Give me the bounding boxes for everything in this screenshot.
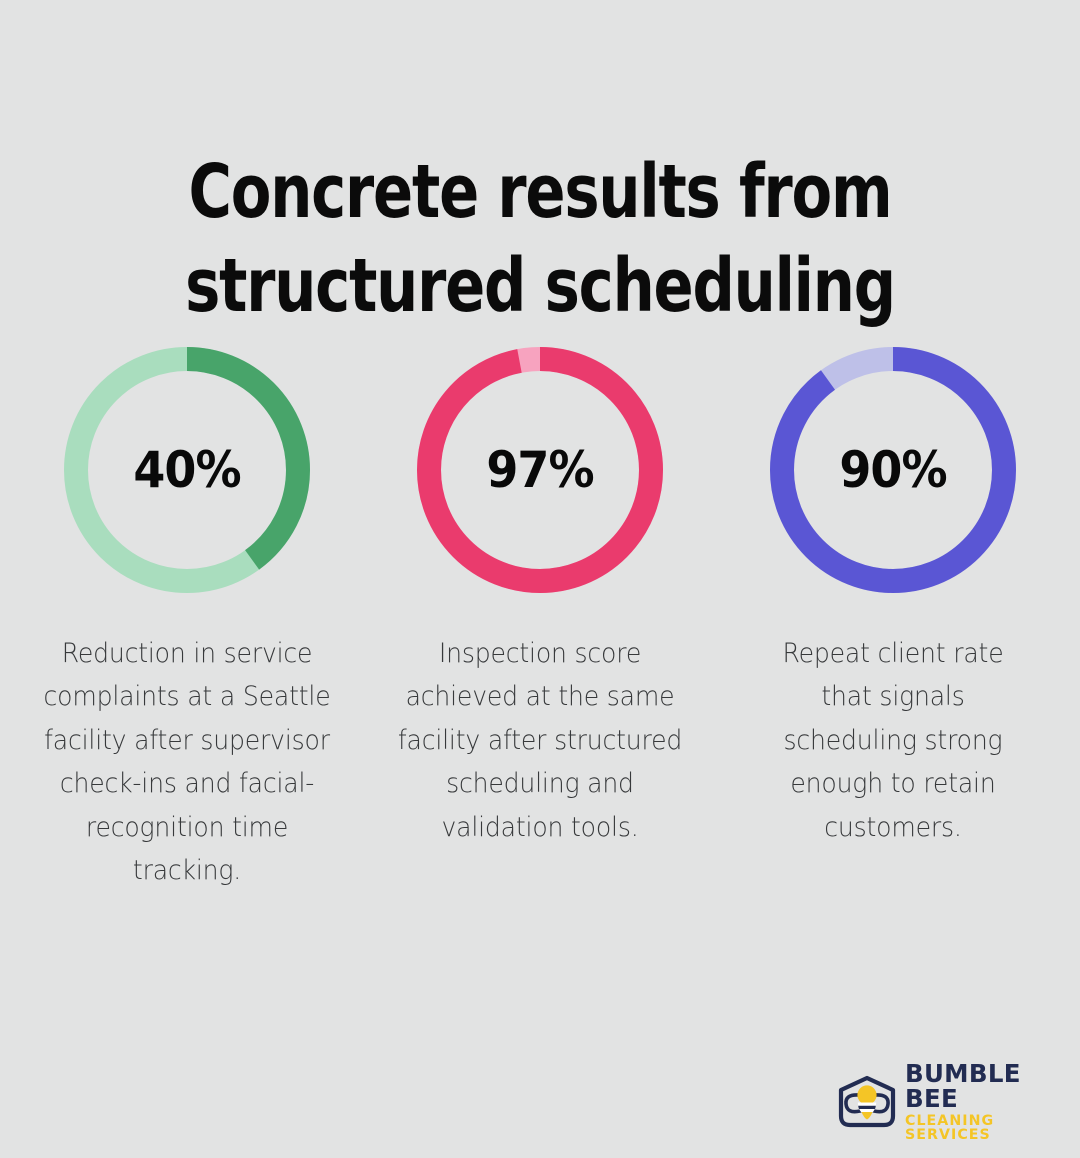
logo-name: BUMBLE BEE	[905, 1062, 1080, 1111]
logo-tagline: CLEANING SERVICES	[905, 1114, 1080, 1142]
bee-house-icon	[836, 1075, 898, 1129]
donut-value-2: 97%	[420, 340, 659, 600]
donut-chart-2: 97%	[410, 340, 670, 600]
donut-chart-3: 90%	[763, 340, 1023, 600]
page-title: Concrete results from structured schedul…	[108, 145, 972, 334]
bee-abdomen	[862, 1112, 873, 1120]
stat-caption-1: Reduction in service complaints at a Sea…	[41, 632, 333, 893]
brand-logo: BUMBLE BEE CLEANING SERVICES	[836, 1062, 1080, 1142]
stat-card: 90% Repeat client rate that signals sche…	[734, 340, 1052, 920]
bee-head	[857, 1086, 876, 1105]
bee-stripe	[858, 1106, 876, 1109]
stat-caption-2: Inspection score achieved at the same fa…	[395, 632, 685, 849]
stat-card: 40% Reduction in service complaints at a…	[28, 340, 346, 920]
donut-value-3: 90%	[773, 340, 1012, 600]
stat-card: 97% Inspection score achieved at the sam…	[381, 340, 699, 920]
infographic-canvas: Concrete results from structured schedul…	[0, 0, 1080, 1158]
stats-row: 40% Reduction in service complaints at a…	[0, 340, 1080, 920]
stat-caption-3: Repeat client rate that signals scheduli…	[754, 632, 1033, 849]
logo-text-group: BUMBLE BEE CLEANING SERVICES	[905, 1062, 1080, 1142]
donut-chart-1: 40%	[57, 340, 317, 600]
donut-value-1: 40%	[67, 340, 306, 600]
